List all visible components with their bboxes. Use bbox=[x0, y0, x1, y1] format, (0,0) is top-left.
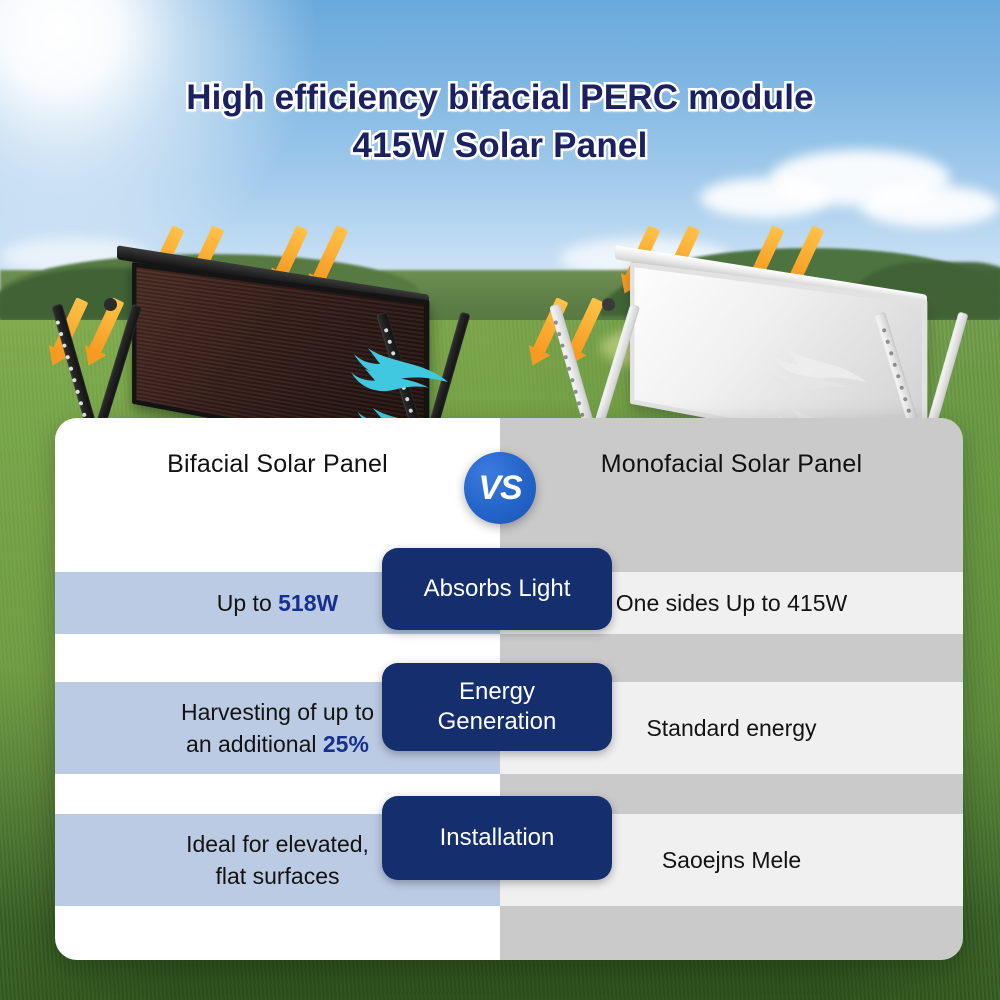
vs-badge-label: VS bbox=[478, 469, 521, 508]
row2-left-line1: Harvesting of up to bbox=[181, 696, 374, 728]
bifacial-column-heading: Bifacial Solar Panel bbox=[55, 418, 500, 510]
monofacial-value-row-1: One sides Up to 415W bbox=[616, 587, 847, 619]
row3-left-line1: Ideal for elevated, bbox=[186, 828, 369, 860]
panel-pivot-top-left bbox=[104, 298, 117, 311]
sun-ray-icon bbox=[312, 225, 348, 283]
row2-left-prefix: an additional bbox=[186, 731, 323, 757]
bifacial-value-row-1: Up to 518W bbox=[217, 587, 338, 619]
feature-pill-1-label: Absorbs Light bbox=[424, 574, 571, 604]
feature-pill-3-label: Installation bbox=[440, 823, 555, 853]
row2-left-highlight: 25% bbox=[323, 731, 369, 757]
row3-left-line2: flat surfaces bbox=[186, 860, 369, 892]
vs-badge: VS bbox=[464, 452, 536, 524]
monofacial-heading-text: Monofacial Solar Panel bbox=[601, 450, 863, 479]
sun-ray-icon bbox=[275, 225, 309, 278]
monofacial-value-row-3: Saoejns Mele bbox=[662, 844, 801, 876]
page-title: High efficiency bifacial PERC module 415… bbox=[0, 74, 1000, 170]
monofacial-column-heading: Monofacial Solar Panel bbox=[500, 418, 963, 510]
title-line-2: 415W Solar Panel bbox=[0, 122, 1000, 170]
bifacial-value-row-2: Harvesting of up to an additional 25% bbox=[181, 696, 374, 760]
feature-pill-2-line2: Generation bbox=[438, 707, 557, 737]
panel-pivot-top-left bbox=[602, 298, 615, 311]
row1-left-highlight: 518W bbox=[278, 590, 338, 616]
row1-left-prefix: Up to bbox=[217, 590, 278, 616]
bifacial-value-row-3: Ideal for elevated, flat surfaces bbox=[186, 828, 369, 892]
bifacial-heading-text: Bifacial Solar Panel bbox=[167, 450, 388, 479]
monofacial-value-row-2: Standard energy bbox=[646, 712, 816, 744]
feature-pill-absorbs-light[interactable]: Absorbs Light bbox=[382, 548, 612, 630]
feature-pill-installation[interactable]: Installation bbox=[382, 796, 612, 880]
feature-pill-energy-generation[interactable]: Energy Generation bbox=[382, 663, 612, 751]
title-line-1: High efficiency bifacial PERC module bbox=[0, 74, 1000, 122]
feature-pill-2-line1: Energy bbox=[438, 677, 557, 707]
